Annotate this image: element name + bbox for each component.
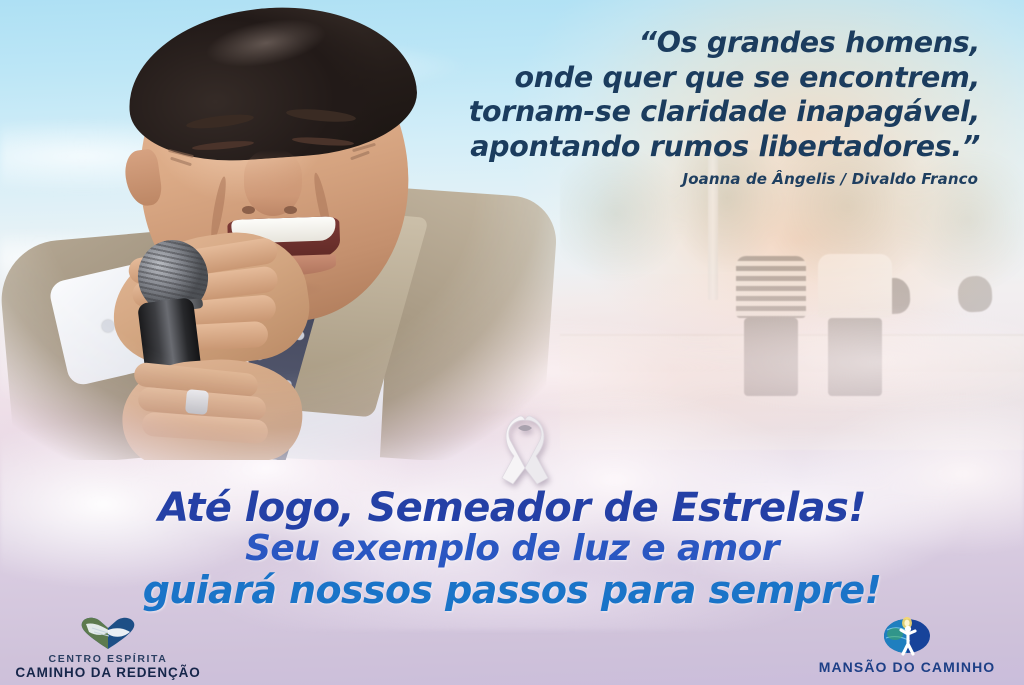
headline-text: Até logo, Semeador de Estrelas! Seu exem… [0, 487, 1024, 611]
logo-left-line-1: CENTRO ESPÍRITA [8, 653, 208, 665]
logo-left-line-2: CAMINHO DA REDENÇÃO [8, 665, 208, 681]
heart-hands-icon [78, 616, 138, 650]
headline-line-1: Até logo, Semeador de Estrelas! [0, 487, 1024, 529]
logo-centro-espirita: CENTRO ESPÍRITA CAMINHO DA REDENÇÃO [8, 616, 208, 681]
white-mourning-ribbon-icon [492, 412, 558, 488]
quote-line-3: tornam-se claridade inapagável, [420, 95, 980, 130]
quote-line-2: onde quer que se encontrem, [420, 61, 980, 96]
logo-right-line-1: MANSÃO DO CAMINHO [802, 659, 1012, 676]
finger-ring [185, 389, 209, 415]
quote-line-4: apontando rumos libertadores.” [420, 130, 980, 165]
quote-line-1: “Os grandes homens, [420, 26, 980, 61]
headline-line-2: Seu exemplo de luz e amor [0, 529, 1024, 569]
memorial-poster: “Os grandes homens, onde quer que se enc… [0, 0, 1024, 685]
quote-text: “Os grandes homens, onde quer que se enc… [420, 26, 980, 164]
nostril-right [284, 206, 297, 214]
headline-line-3: guiará nossos passos para sempre! [0, 569, 1024, 611]
logo-mansao-do-caminho: MANSÃO DO CAMINHO [802, 614, 1012, 676]
cuff-button [102, 320, 114, 332]
globe-torch-figure-icon [881, 614, 933, 656]
nostril-left [242, 206, 255, 214]
quote-attribution: Joanna de Ângelis / Divaldo Franco [683, 170, 978, 188]
